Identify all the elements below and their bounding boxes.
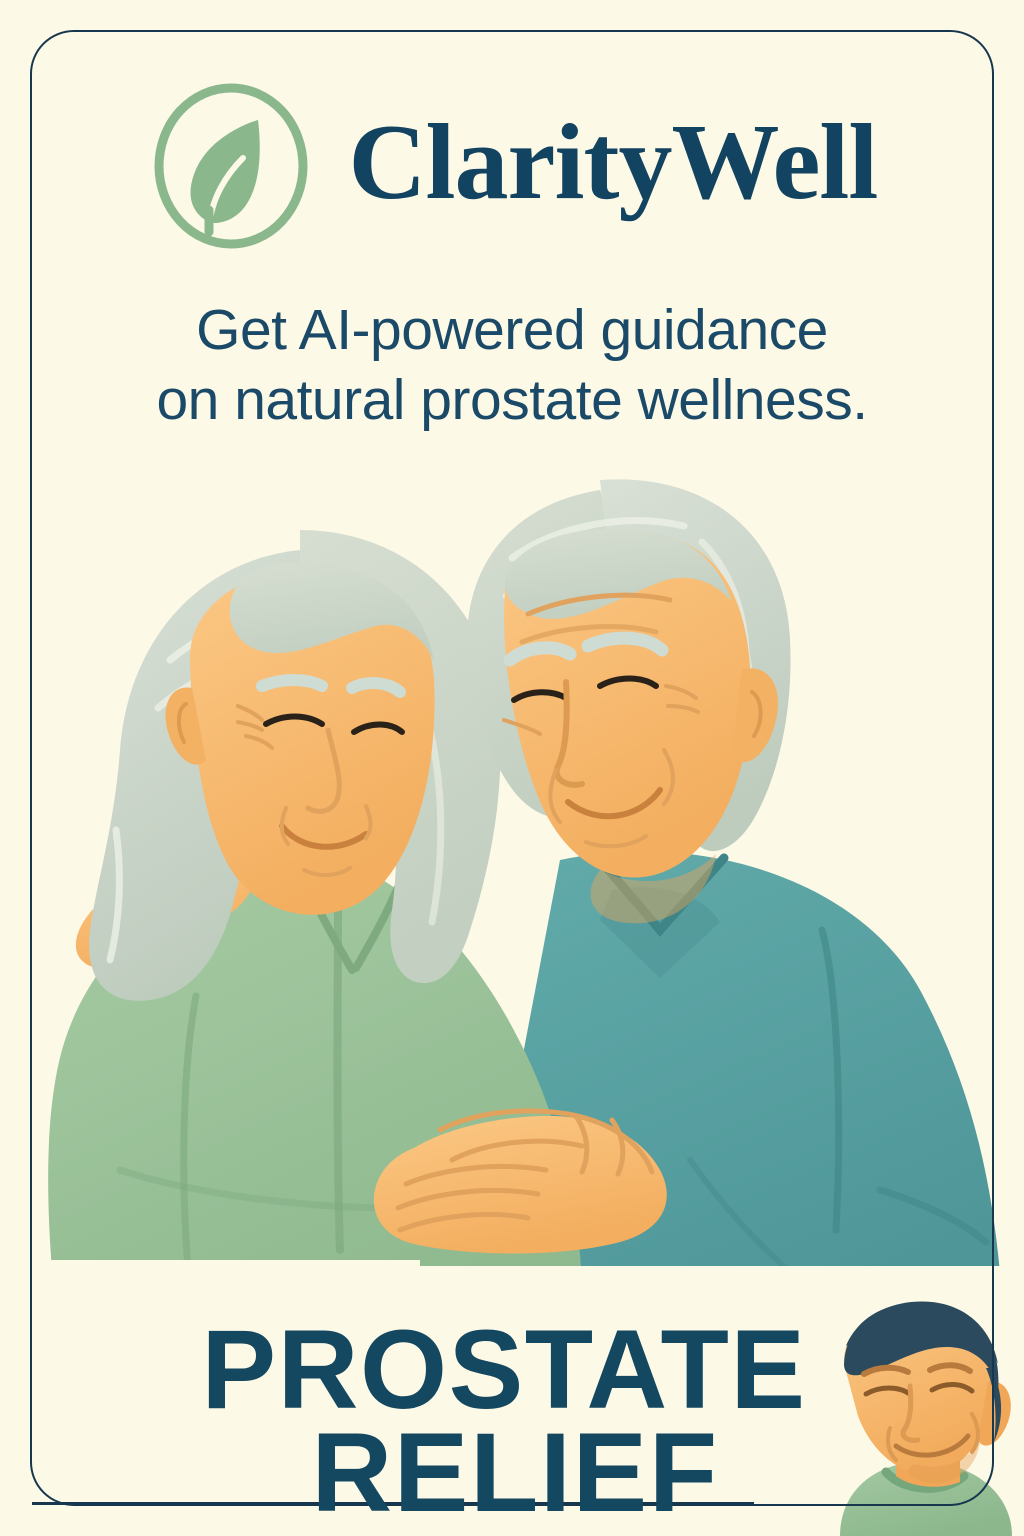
- smiling-man-avatar: [754, 1286, 1024, 1536]
- title-divider-rule: [32, 1502, 754, 1505]
- headline-line-2: on natural prostate wellness.: [60, 366, 964, 436]
- leaf-in-circle-icon: [147, 82, 315, 250]
- brand-header: ClarityWell: [0, 82, 1024, 250]
- headline-line-1: Get AI-powered guidance: [60, 296, 964, 366]
- poster: ClarityWell Get AI-powered guidance on n…: [0, 0, 1024, 1536]
- elderly-couple-illustration: [0, 430, 1024, 1340]
- brand-name: ClarityWell: [349, 109, 878, 223]
- headline: Get AI-powered guidance on natural prost…: [60, 296, 964, 435]
